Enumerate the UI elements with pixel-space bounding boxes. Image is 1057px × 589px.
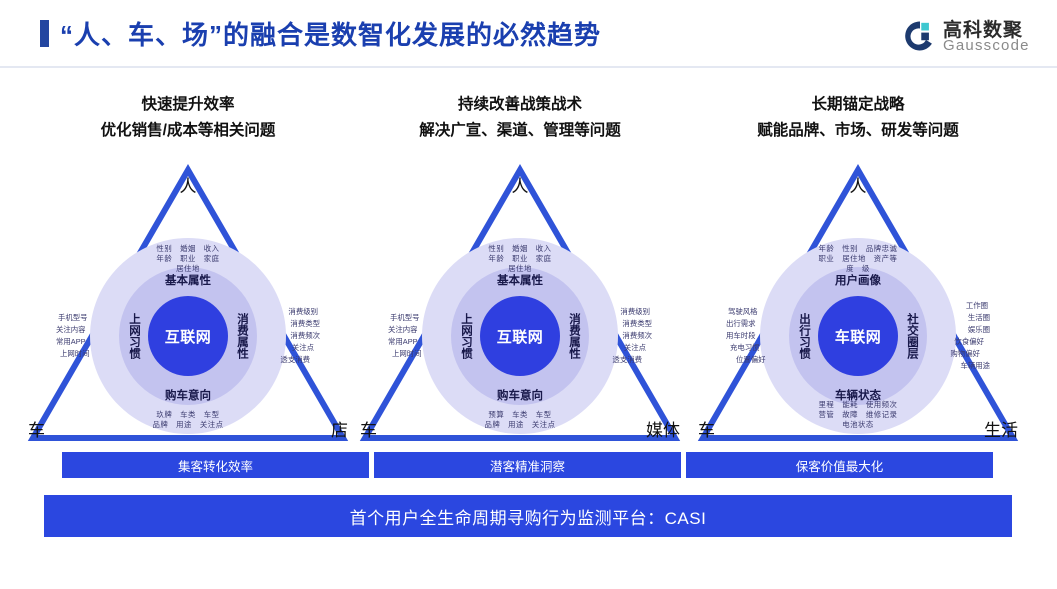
attr-row: 预算 车类 车型 — [457, 410, 583, 420]
ring-chart: 互联网 互联网 基本属性 购车意向 上网习惯 消费属性 性别 婚姻 收入 年龄 … — [422, 238, 618, 434]
triangle-diagram: 人 车 媒体 互联网 互联网 基本属性 购车意向 上网习惯 消费属性 性别 婚姻… — [355, 160, 685, 445]
attr-row: 关注点 — [578, 343, 652, 353]
triangle-label-apex: 人 — [512, 172, 529, 197]
ring-attrs-bottom: 预算 车类 车型 品牌 用途 关注点 — [457, 410, 583, 430]
attr-row: 出行需求 — [726, 319, 798, 329]
title-accent-bar — [40, 20, 49, 47]
ring-attrs-top: 年龄 性别 品牌忠诚 职业 居住地 资产等 度 级 — [798, 244, 918, 274]
gausscode-mark-icon — [903, 19, 937, 53]
attr-row: 饮食偏好 — [916, 337, 990, 347]
ring-attrs-right: 工作圈 生活圈 娱乐圈 饮食偏好 购物偏好 车辆用途 — [916, 299, 990, 373]
heading-line-1: 快速提升效率 — [23, 92, 353, 118]
attr-row: 营管 故障 维修记录 — [795, 410, 921, 420]
ring-section-top: 基本属性 — [165, 272, 211, 288]
ring-section-left: 出行习惯 — [796, 313, 812, 359]
attr-row: 消费类型 — [246, 319, 320, 329]
ring-attrs-bottom: 里程 能耗 使用频次 营管 故障 维修记录 电池状态 — [795, 400, 921, 430]
triangle-label-left: 车 — [360, 416, 377, 441]
ring-chart: 车联网 车联网 用户画像 车辆状态 出行习惯 社交圈层 年龄 性别 品牌忠诚 职… — [760, 238, 956, 434]
attr-row: 性别 婚姻 收入 — [460, 244, 580, 254]
attr-row: 工作圈 — [916, 301, 990, 311]
triangle-label-right: 店 — [331, 416, 348, 441]
attr-row: 消费频次 — [578, 331, 652, 341]
ring-section-top: 基本属性 — [497, 272, 543, 288]
triangle-label-left: 车 — [28, 416, 45, 441]
column-heading: 长期锚定战略 赋能品牌、市场、研发等问题 — [693, 92, 1023, 144]
ring-attrs-right: 消费级别 消费类型 消费频次 关注点 透支消费 — [246, 305, 320, 367]
platform-banner-label: 首个用户全生命周期寻购行为监测平台：CASI — [350, 504, 707, 529]
ring-attrs-right: 消费级别 消费类型 消费频次 关注点 透支消费 — [578, 305, 652, 367]
attr-row: 关注内容 — [56, 325, 128, 335]
attr-row: 手机型号 — [388, 313, 460, 323]
attr-row: 品牌 用途 关注点 — [457, 420, 583, 430]
attr-row: 消费类型 — [578, 319, 652, 329]
attr-row: 常用APP — [388, 337, 460, 347]
attr-row: 年龄 性别 品牌忠诚 — [798, 244, 918, 254]
triangle-label-apex: 人 — [180, 172, 197, 197]
outcome-strip-label: 保客价值最大化 — [796, 456, 884, 475]
ring-section-bottom: 购车意向 — [497, 387, 543, 403]
column-heading: 快速提升效率 优化销售/成本等相关问题 — [23, 92, 353, 144]
ring-core: 互联网 — [148, 296, 228, 376]
ring-core-label: 互联网 — [165, 326, 212, 347]
outcome-strip-label: 集客转化效率 — [178, 456, 253, 475]
attr-row: 位置偏好 — [726, 355, 798, 365]
attr-row: 用车时段 — [726, 331, 798, 341]
attr-row: 居住地 — [128, 264, 248, 274]
attr-row: 驾驶风格 — [726, 307, 798, 317]
ring-section-top: 用户画像 — [835, 272, 881, 288]
triangle-diagram: 人 车 生活 车联网 车联网 用户画像 车辆状态 出行习惯 社交圈层 年龄 性别… — [693, 160, 1023, 445]
page-title: “人、车、场”的融合是数智化发展的必然趋势 — [60, 15, 601, 52]
ring-core-label: 车联网 — [835, 326, 882, 347]
attr-row: 职业 居住地 资产等 — [798, 254, 918, 264]
attr-row: 关注点 — [246, 343, 320, 353]
attr-row: 性别 婚姻 收入 — [128, 244, 248, 254]
heading-line-1: 长期锚定战略 — [693, 92, 1023, 118]
heading-line-2: 优化销售/成本等相关问题 — [23, 118, 353, 144]
attr-row: 玖牌 车类 车型 — [125, 410, 251, 420]
page-header: “人、车、场”的融合是数智化发展的必然趋势 高科数聚 Gausscode — [0, 0, 1057, 66]
ring-attrs-left: 手机型号 关注内容 常用APP 上网时间 — [56, 311, 128, 361]
attr-row: 消费级别 — [578, 307, 652, 317]
ring-attrs-left: 驾驶风格 出行需求 用车时段 充电习惯 位置偏好 — [726, 305, 798, 367]
attr-row: 品牌 用途 关注点 — [125, 420, 251, 430]
ring-section-left: 上网习惯 — [458, 313, 474, 359]
attr-row: 娱乐圈 — [916, 325, 990, 335]
triangle-label-left: 车 — [698, 416, 715, 441]
ring-chart: 互联网 互联网 基本属性 购车意向 上网习惯 消费属性 性别 婚姻 收入 年龄 … — [90, 238, 286, 434]
heading-line-1: 持续改善战策战术 — [355, 92, 685, 118]
outcome-strip-2: 潜客精准洞察 — [374, 452, 681, 478]
attr-row: 年龄 职业 家庭 — [460, 254, 580, 264]
triangle-label-right: 生活 — [984, 416, 1018, 441]
triangle-label-right: 媒体 — [646, 416, 680, 441]
attr-row: 手机型号 — [56, 313, 128, 323]
header-divider — [0, 66, 1057, 68]
attr-row: 上网时间 — [388, 349, 460, 359]
ring-core: 互联网 — [480, 296, 560, 376]
attr-row: 消费频次 — [246, 331, 320, 341]
column-tactics: 持续改善战策战术 解决广宣、渠道、管理等问题 人 车 媒体 互联网 互联网 基本… — [355, 92, 685, 492]
ring-section-bottom: 购车意向 — [165, 387, 211, 403]
attr-row: 透支消费 — [246, 355, 320, 365]
ring-attrs-bottom: 玖牌 车类 车型 品牌 用途 关注点 — [125, 410, 251, 430]
heading-line-2: 解决广宣、渠道、管理等问题 — [355, 118, 685, 144]
attr-row: 常用APP — [56, 337, 128, 347]
attr-row: 年龄 职业 家庭 — [128, 254, 248, 264]
heading-line-2: 赋能品牌、市场、研发等问题 — [693, 118, 1023, 144]
ring-attrs-left: 手机型号 关注内容 常用APP 上网时间 — [388, 311, 460, 361]
triangle-diagram: 人 车 店 互联网 互联网 基本属性 购车意向 上网习惯 消费属性 性别 婚姻 … — [23, 160, 353, 445]
ring-section-left: 上网习惯 — [126, 313, 142, 359]
attr-row: 居住地 — [460, 264, 580, 274]
ring-attrs-top: 性别 婚姻 收入 年龄 职业 家庭 居住地 — [460, 244, 580, 274]
platform-banner: 首个用户全生命周期寻购行为监测平台：CASI — [44, 495, 1012, 537]
attr-row: 透支消费 — [578, 355, 652, 365]
attr-row: 关注内容 — [388, 325, 460, 335]
attr-row: 生活圈 — [916, 313, 990, 323]
attr-row: 充电习惯 — [726, 343, 798, 353]
column-efficiency: 快速提升效率 优化销售/成本等相关问题 人 车 店 互联网 互联网 基本属性 购… — [23, 92, 353, 492]
ring-attrs-top: 性别 婚姻 收入 年龄 职业 家庭 居住地 — [128, 244, 248, 274]
outcome-strip-3: 保客价值最大化 — [686, 452, 993, 478]
attr-row: 购物偏好 — [916, 349, 990, 359]
attr-row: 度 级 — [798, 264, 918, 274]
ring-core-label: 互联网 — [497, 326, 544, 347]
attr-row: 消费级别 — [246, 307, 320, 317]
attr-row: 里程 能耗 使用频次 — [795, 400, 921, 410]
brand-logo: 高科数聚 Gausscode — [903, 14, 1043, 58]
triangle-label-apex: 人 — [850, 172, 867, 197]
attr-row: 上网时间 — [56, 349, 128, 359]
column-heading: 持续改善战策战术 解决广宣、渠道、管理等问题 — [355, 92, 685, 144]
outcome-strip-label: 潜客精准洞察 — [490, 456, 565, 475]
outcome-strip-1: 集客转化效率 — [62, 452, 369, 478]
column-strategy: 长期锚定战略 赋能品牌、市场、研发等问题 人 车 生活 车联网 车联网 用户画像… — [693, 92, 1023, 492]
attr-row: 电池状态 — [795, 420, 921, 430]
attr-row: 车辆用途 — [916, 361, 990, 371]
ring-core: 车联网 — [818, 296, 898, 376]
logo-name-en: Gausscode — [943, 37, 1030, 54]
